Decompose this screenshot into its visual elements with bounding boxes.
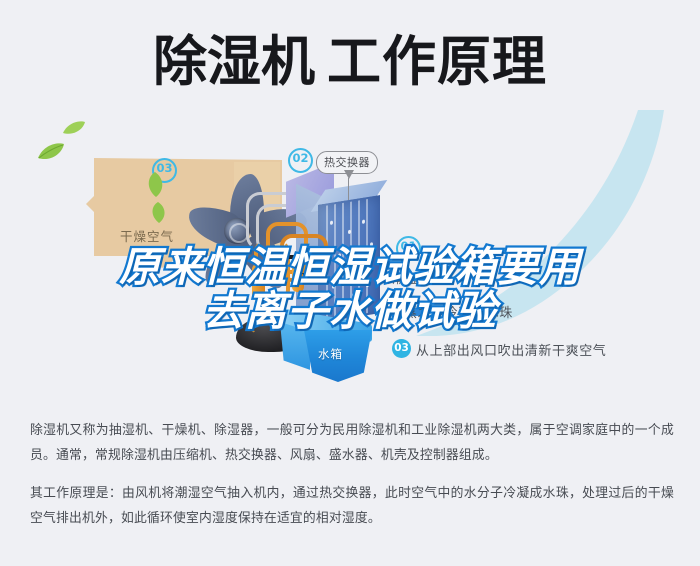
note-evaporator: 蒸发器冷凝成水珠 xyxy=(404,302,513,321)
leaf-icon xyxy=(36,142,66,166)
note-outlet: 从上部出风口吹出清新干爽空气 xyxy=(416,340,606,359)
flow-arrow-up xyxy=(258,260,270,286)
flow-arrow-right xyxy=(282,248,304,267)
infographic-page: 除湿机工作原理 03 干燥空气 xyxy=(0,0,700,566)
paragraph-2: 其工作原理是：由风机将潮湿空气抽入机内，通过热交换器，此时空气中的水分子冷凝成水… xyxy=(30,481,674,531)
dry-air-label: 干燥空气 xyxy=(120,226,174,245)
flow-arrow-down xyxy=(302,260,314,286)
humid-air-label: 潮湿空气 xyxy=(392,268,446,287)
note-badge-03: 03 xyxy=(392,339,411,358)
callout-stem xyxy=(348,178,349,200)
leaf-icon xyxy=(150,202,168,228)
page-title: 除湿机工作原理 xyxy=(0,26,700,98)
page-title-part-a: 除湿机 xyxy=(153,26,315,98)
paragraph-1: 除湿机又称为抽湿机、干燥机、除湿器，一般可分为民用除湿机和工业除湿机两大类，属于… xyxy=(30,418,674,468)
badge-humid-air: 01 xyxy=(396,236,421,261)
badge-heat-exchanger: 02 xyxy=(288,148,313,173)
water-tank-label: 水箱 xyxy=(318,346,343,362)
body-copy: 除湿机又称为抽湿机、干燥机、除湿器，一般可分为民用除湿机和工业除湿机两大类，属于… xyxy=(30,418,674,533)
leaf-icon xyxy=(62,120,86,140)
page-title-part-b: 工作原理 xyxy=(327,26,547,98)
leaf-icon xyxy=(146,172,166,202)
dehumidifier-diagram: 03 干燥空气 xyxy=(0,108,700,400)
